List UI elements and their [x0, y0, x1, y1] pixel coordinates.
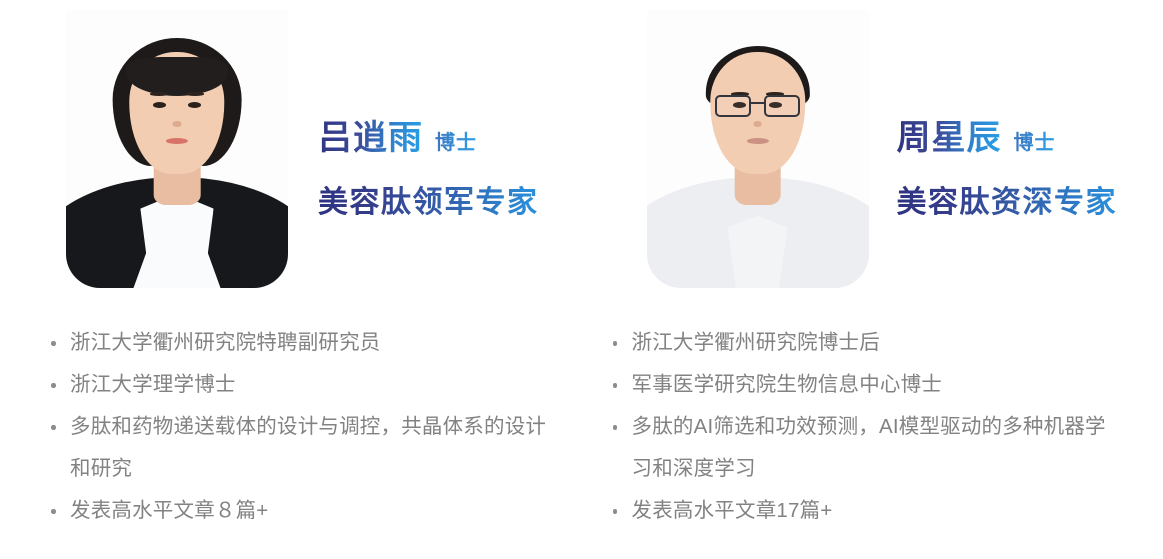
- expert-card-0: 吕逍雨 博士 美容肽领军专家 浙江大学衢州研究院特聘副研究员 浙江大学理学博士 …: [0, 0, 582, 559]
- expert-role-0: 美容肽领军专家: [318, 177, 582, 221]
- expert-name-1: 周星辰: [897, 110, 1002, 159]
- expert-credentials-list-1: 浙江大学衢州研究院博士后 军事医学研究院生物信息中心博士 多肽的AI筛选和功效预…: [610, 322, 1110, 532]
- expert-photo-0: [66, 10, 288, 288]
- list-item: 发表高水平文章17篇+: [610, 490, 1110, 532]
- portrait-photo-female-icon: [66, 10, 288, 288]
- expert-name-0: 吕逍雨: [318, 110, 423, 159]
- list-item: 浙江大学衢州研究院特聘副研究员: [48, 322, 548, 364]
- list-item: 多肽的AI筛选和功效预测，AI模型驱动的多种机器学习和深度学习: [610, 406, 1110, 490]
- list-item: 多肽和药物递送载体的设计与调控，共晶体系的设计和研究: [48, 406, 548, 490]
- expert-name-line-1: 周星辰 博士: [897, 110, 1163, 159]
- expert-photo-1: [647, 10, 869, 288]
- expert-header-1: 周星辰 博士 美容肽资深专家: [582, 0, 1163, 300]
- expert-card-1: 周星辰 博士 美容肽资深专家 浙江大学衢州研究院博士后 军事医学研究院生物信息中…: [582, 0, 1163, 559]
- list-item: 浙江大学理学博士: [48, 364, 548, 406]
- expert-role-1: 美容肽资深专家: [897, 177, 1163, 221]
- expert-degree-1: 博士: [1014, 126, 1056, 155]
- list-item: 浙江大学衢州研究院博士后: [610, 322, 1110, 364]
- list-item: 发表高水平文章８篇+: [48, 490, 548, 532]
- expert-name-line-0: 吕逍雨 博士: [318, 110, 582, 159]
- list-item: 军事医学研究院生物信息中心博士: [610, 364, 1110, 406]
- portrait-photo-male-icon: [647, 10, 869, 288]
- expert-profiles-section: 吕逍雨 博士 美容肽领军专家 浙江大学衢州研究院特聘副研究员 浙江大学理学博士 …: [0, 0, 1163, 559]
- expert-credentials-list-0: 浙江大学衢州研究院特聘副研究员 浙江大学理学博士 多肽和药物递送载体的设计与调控…: [48, 322, 548, 532]
- expert-name-block-1: 周星辰 博士 美容肽资深专家: [897, 110, 1163, 221]
- expert-degree-0: 博士: [435, 126, 477, 155]
- expert-name-block-0: 吕逍雨 博士 美容肽领军专家: [318, 110, 582, 221]
- expert-header-0: 吕逍雨 博士 美容肽领军专家: [0, 0, 582, 300]
- eyeglasses-icon: [715, 95, 799, 117]
